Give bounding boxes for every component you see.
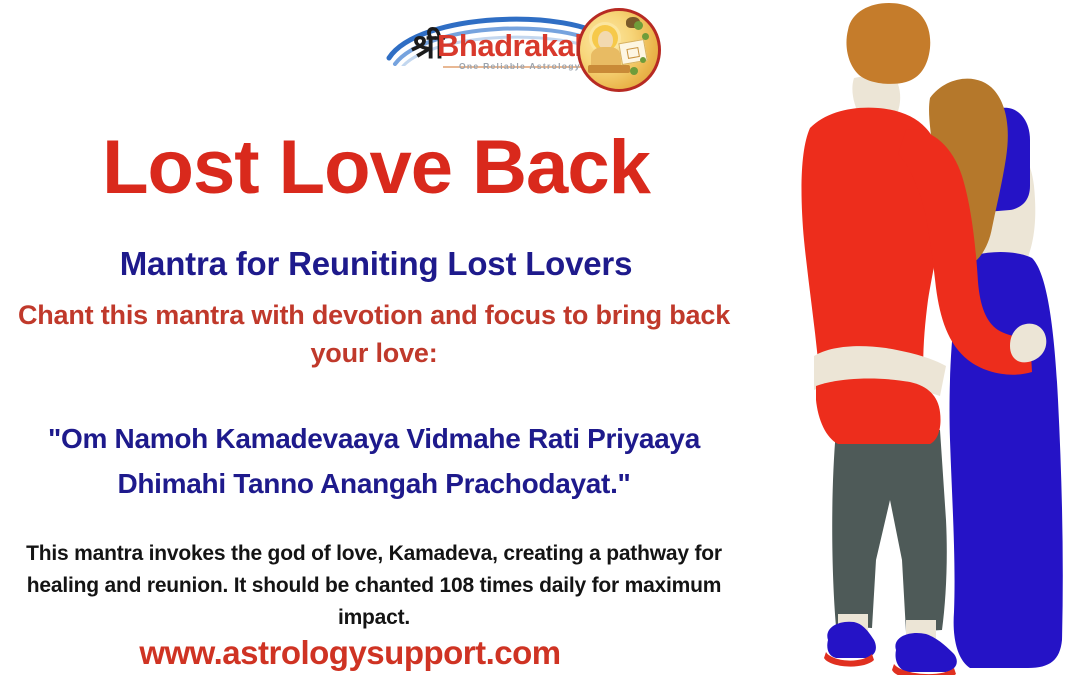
astrologer-emblem-icon [577,8,661,92]
man-pants-shape [832,430,947,632]
logo-tagline: One Reliable Astrology [459,61,581,71]
man-hair-shape [846,3,930,84]
subheading: Mantra for Reuniting Lost Lovers [0,245,752,283]
poster-canvas: श्री Bhadrakali One Reliable Astrology L… [0,0,1080,675]
brand-logo[interactable]: श्री Bhadrakali One Reliable Astrology [385,6,675,90]
page-title: Lost Love Back [0,128,752,208]
website-url[interactable]: www.astrologysupport.com [0,634,700,672]
explanation-text: This mantra invokes the god of love, Kam… [0,538,748,634]
logo-brand-name: Bhadrakali [437,28,591,64]
man-shirt-hem-shape [816,379,941,444]
man-right-shoe [895,633,956,672]
mantra-text: "Om Namoh Kamadevaaya Vidmahe Rati Priya… [0,417,748,507]
instruction-text: Chant this mantra with devotion and focu… [0,296,748,373]
embracing-couple-illustration [780,0,1080,675]
